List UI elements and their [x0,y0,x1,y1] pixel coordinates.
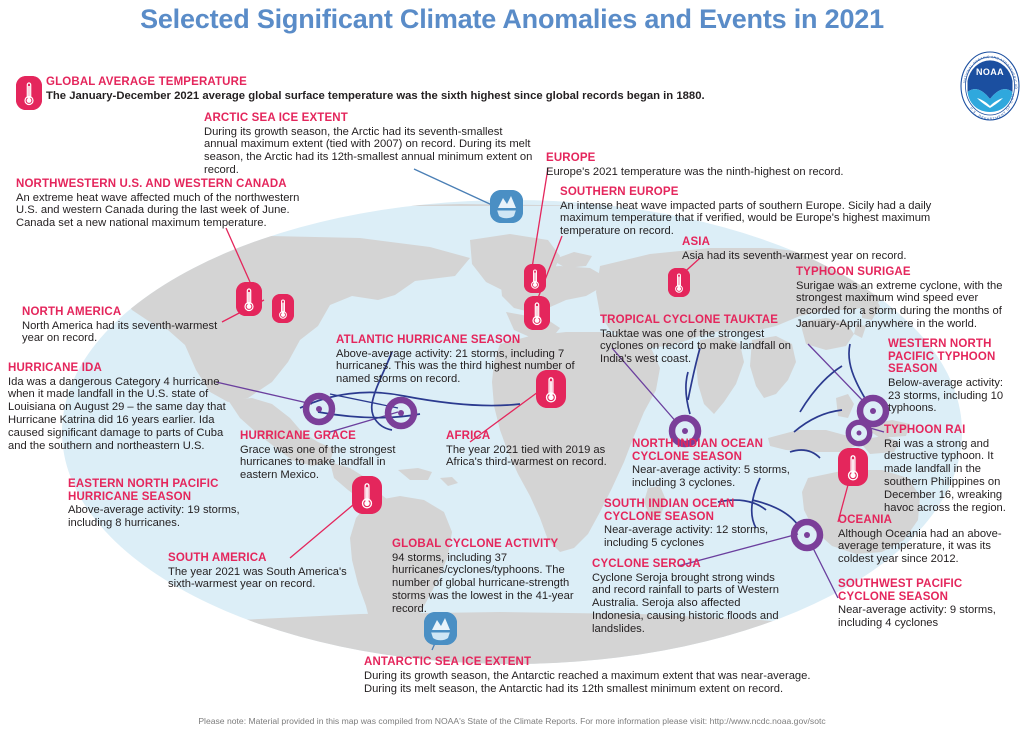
thermometer-icon [524,264,546,293]
annotation-body: Below-average activity: 23 storms, inclu… [888,377,1016,415]
annotation-body: An intense heat wave impacted parts of s… [560,200,968,238]
annotation-heading: SOUTH INDIAN OCEAN CYCLONE SEASON [604,498,784,523]
annotation-body: During its growth season, the Arctic had… [204,126,538,177]
annotation-asia: ASIA Asia had its seventh-warmest year o… [682,236,982,262]
annotation-north-america: NORTH AMERICA North America had its seve… [22,306,232,345]
annotation-heading: TROPICAL CYCLONE TAUKTAE [600,314,800,327]
annotation-heading: SOUTHERN EUROPE [560,186,968,199]
annotation-body: Above-average activity: 19 storms, inclu… [68,504,250,530]
annotation-north-indian-ocean-cyclone-season: NORTH INDIAN OCEAN CYCLONE SEASON Near-a… [632,438,804,490]
annotation-body: During its growth season, the Antarctic … [364,670,814,696]
thermometer-icon [524,296,550,330]
annotation-south-indian-ocean-cyclone-season: SOUTH INDIAN OCEAN CYCLONE SEASON Near-a… [604,498,784,550]
annotation-body: Europe's 2021 temperature was the ninth-… [546,166,866,179]
annotation-body: North America had its seventh-warmest ye… [22,320,232,346]
annotation-heading: ANTARCTIC SEA ICE EXTENT [364,656,814,669]
annotation-heading: NORTHWESTERN U.S. AND WESTERN CANADA [16,178,316,191]
footnote: Please note: Material provided in this m… [0,716,1024,726]
annotation-heading: ATLANTIC HURRICANE SEASON [336,334,586,347]
annotation-heading: ARCTIC SEA ICE EXTENT [204,112,538,125]
annotation-hurricane-grace: HURRICANE GRACE Grace was one of the str… [240,430,410,482]
annotation-cyclone-seroja: CYCLONE SEROJA Cyclone Seroja brought st… [592,558,792,636]
thermometer-icon [16,76,42,110]
annotation-heading: NORTH INDIAN OCEAN CYCLONE SEASON [632,438,804,463]
annotation-heading: EUROPE [546,152,866,165]
annotation-heading: OCEANIA [838,514,1014,527]
annotation-body: 94 storms, including 37 hurricanes/cyclo… [392,552,584,616]
annotation-body: Asia had its seventh-warmest year on rec… [682,250,982,263]
thermometer-icon [236,282,262,316]
annotation-body: The year 2021 tied with 2019 as Africa's… [446,444,640,470]
annotation-south-america: SOUTH AMERICA The year 2021 was South Am… [168,552,354,591]
annotation-heading: HURRICANE IDA [8,362,226,375]
annotation-global-cyclone-activity: GLOBAL CYCLONE ACTIVITY 94 storms, inclu… [392,538,584,616]
annotation-heading: AFRICA [446,430,640,443]
annotation-heading: TYPHOON SURIGAE [796,266,1018,279]
thermometer-icon [838,448,868,486]
annotation-body: Near-average activity: 5 storms, includi… [632,464,804,490]
annotation-body: Above-average activity: 21 storms, inclu… [336,348,586,386]
annotation-body: The year 2021 was South America's sixth-… [168,566,354,592]
annotation-southern-europe: SOUTHERN EUROPE An intense heat wave imp… [560,186,968,238]
annotation-body: Surigae was an extreme cyclone, with the… [796,280,1018,331]
annotation-oceania: OCEANIA Although Oceania had an above-av… [838,514,1014,566]
annotation-hurricane-ida: HURRICANE IDA Ida was a dangerous Catego… [8,362,226,452]
annotation-eastern-north-pacific-hurricane-season: EASTERN NORTH PACIFIC HURRICANE SEASON A… [68,478,250,530]
annotation-global-average-temperature: GLOBAL AVERAGE TEMPERATURE The January-D… [46,76,746,102]
annotation-heading: SOUTH AMERICA [168,552,354,565]
annotation-southwest-pacific-cyclone-season: SOUTHWEST PACIFIC CYCLONE SEASON Near-av… [838,578,1018,630]
annotation-body: Near-average activity: 9 storms, includi… [838,604,1018,630]
annotation-heading: WESTERN NORTH PACIFIC TYPHOON SEASON [888,338,1016,376]
annotation-body: An extreme heat wave affected much of th… [16,192,316,230]
annotation-heading: CYCLONE SEROJA [592,558,792,571]
annotation-body: Although Oceania had an above-average te… [838,528,1014,566]
annotation-antarctic-sea-ice-extent: ANTARCTIC SEA ICE EXTENT During its grow… [364,656,814,696]
annotation-tropical-cyclone-tauktae: TROPICAL CYCLONE TAUKTAE Tauktae was one… [600,314,800,366]
annotation-northwestern-us-and-western-canada: NORTHWESTERN U.S. AND WESTERN CANADA An … [16,178,316,230]
annotation-atlantic-hurricane-season: ATLANTIC HURRICANE SEASON Above-average … [336,334,586,386]
annotation-arctic-sea-ice-extent: ARCTIC SEA ICE EXTENT During its growth … [204,112,538,177]
annotation-typhoon-surigae: TYPHOON SURIGAE Surigae was an extreme c… [796,266,1018,331]
annotation-heading: EASTERN NORTH PACIFIC HURRICANE SEASON [68,478,250,503]
annotation-africa: AFRICA The year 2021 tied with 2019 as A… [446,430,640,469]
infographic-canvas: Selected Significant Climate Anomalies a… [0,0,1024,747]
annotation-body: Rai was a strong and destructive typhoon… [884,438,1016,515]
thermometer-icon [272,294,294,323]
annotation-body: Near-average activity: 12 storms, includ… [604,524,784,550]
annotation-body: The January-December 2021 average global… [46,90,746,103]
annotation-body: Ida was a dangerous Category 4 hurricane… [8,376,226,453]
annotation-body: Tauktae was one of the strongest cyclone… [600,328,800,366]
annotation-heading: GLOBAL CYCLONE ACTIVITY [392,538,584,551]
cyclone-icon [302,392,336,426]
sea-ice-icon [424,612,457,645]
annotation-heading: NORTH AMERICA [22,306,232,319]
annotation-western-north-pacific-typhoon-season: WESTERN NORTH PACIFIC TYPHOON SEASON Bel… [888,338,1016,415]
annotation-heading: ASIA [682,236,982,249]
annotation-heading: HURRICANE GRACE [240,430,410,443]
cyclone-icon [845,419,873,447]
annotation-body: Grace was one of the strongest hurricane… [240,444,410,482]
cyclone-icon [384,396,418,430]
cyclone-icon [790,518,824,552]
annotation-body: Cyclone Seroja brought strong winds and … [592,572,792,636]
annotation-heading: SOUTHWEST PACIFIC CYCLONE SEASON [838,578,1018,603]
annotation-typhoon-rai: TYPHOON RAI Rai was a strong and destruc… [884,424,1016,514]
sea-ice-icon [490,190,523,223]
thermometer-icon [668,268,690,297]
annotation-heading: GLOBAL AVERAGE TEMPERATURE [46,76,746,89]
annotation-europe: EUROPE Europe's 2021 temperature was the… [546,152,866,178]
annotation-heading: TYPHOON RAI [884,424,1016,437]
